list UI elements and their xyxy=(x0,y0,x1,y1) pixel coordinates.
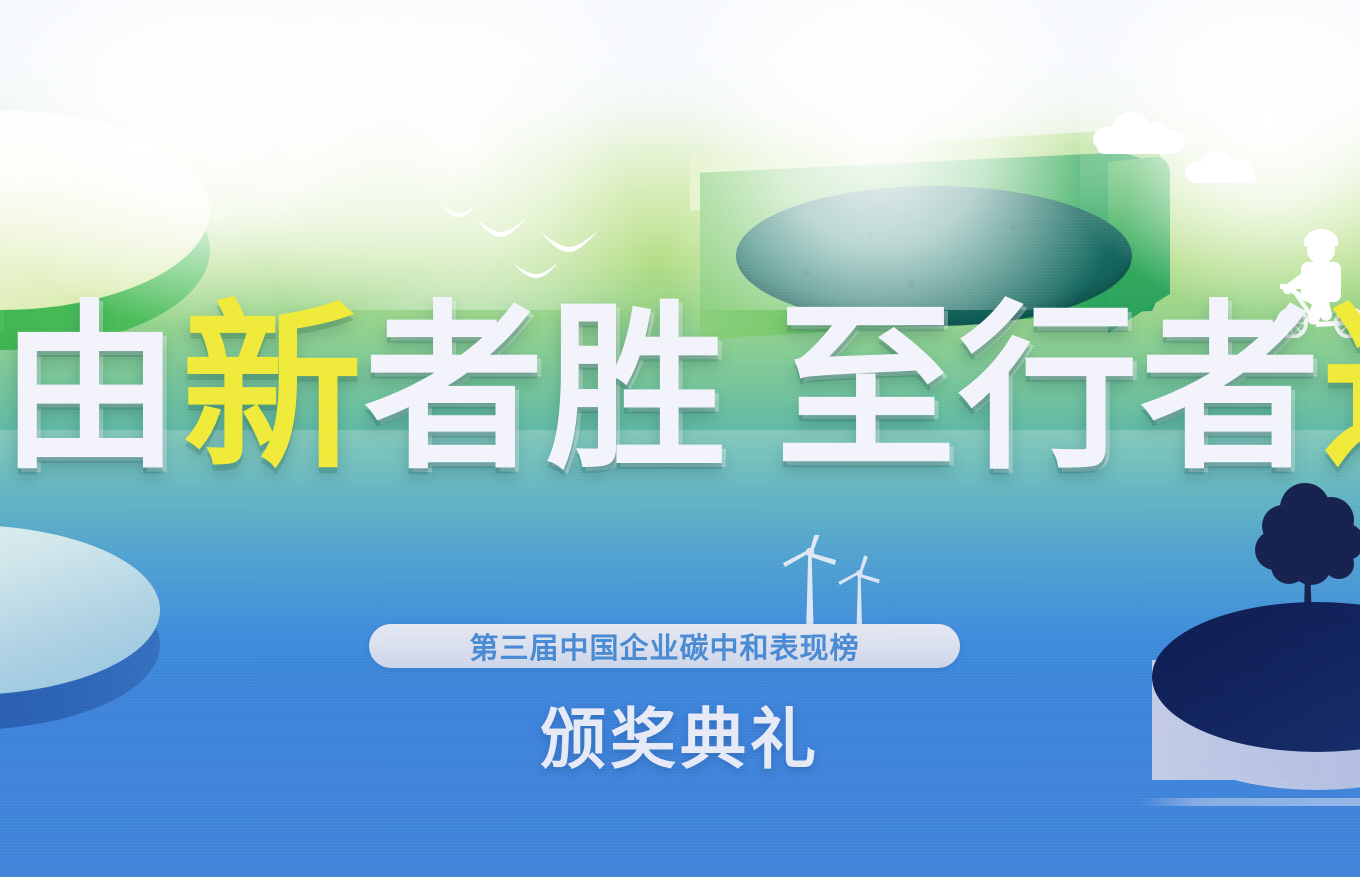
title-char-4: 胜 xyxy=(546,300,728,480)
cloud-icon-2 xyxy=(1185,150,1259,182)
title-char-6: 行 xyxy=(958,300,1140,480)
title-char-8: 达 xyxy=(1322,300,1360,480)
subtitle-banner: 第三届中国企业碳中和表现榜 xyxy=(369,624,960,668)
ceremony-text: 颁奖典礼 xyxy=(540,686,820,782)
title-char-1: 由 xyxy=(0,300,182,480)
bird-icon-1 xyxy=(440,200,480,222)
title-char-3: 者 xyxy=(364,300,546,480)
bird-icon-2 xyxy=(476,214,528,242)
main-title: 由新者胜至行者达 xyxy=(0,300,1360,480)
subtitle-text: 第三届中国企业碳中和表现榜 xyxy=(469,625,859,667)
stage-light-2 xyxy=(230,0,690,310)
ground-line xyxy=(1140,798,1360,806)
title-char-7: 者 xyxy=(1140,300,1322,480)
main-title-wrap: 由新者胜至行者达 xyxy=(0,300,1360,480)
bird-icon-4 xyxy=(512,256,560,282)
bird-icon-3 xyxy=(540,226,600,258)
title-char-2: 新 xyxy=(182,300,364,480)
ceremony-wrap: 颁奖典礼 xyxy=(0,686,1360,782)
poster-stage: 由新者胜至行者达 第三届中国企业碳中和表现榜 颁奖典礼 xyxy=(0,0,1360,877)
cloud-icon xyxy=(1093,112,1185,152)
title-char-5: 至 xyxy=(776,300,958,480)
